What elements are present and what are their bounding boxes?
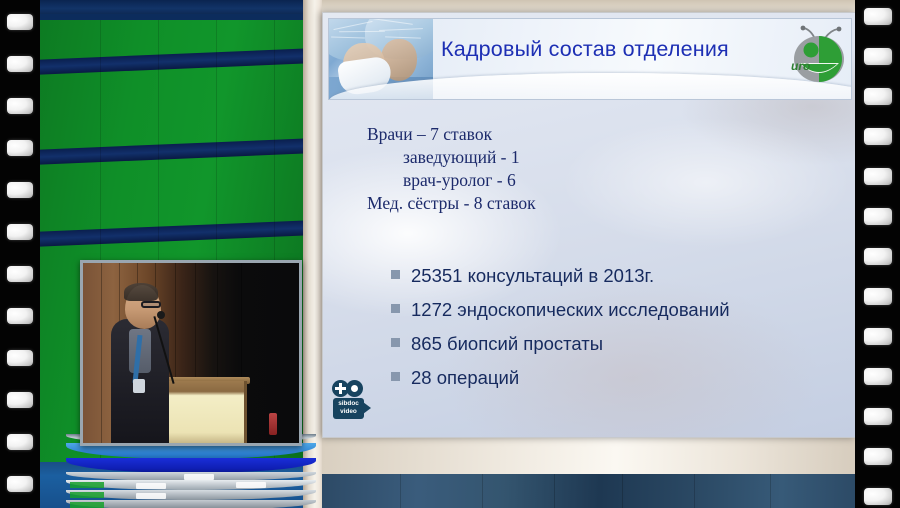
sibdoc-logo-text: sibdoc video [335, 400, 362, 416]
studio-wall-stripe [40, 47, 322, 75]
wall-tile-seam [770, 474, 771, 508]
uro-bee-logo: uro [785, 25, 849, 89]
desk-green-accent [70, 492, 104, 498]
film-sprocket-hole [864, 128, 892, 145]
sibdoc-line1: sibdoc [335, 400, 362, 408]
film-sprocket-hole [864, 88, 892, 105]
list-item: 865 биопсий простаты [391, 333, 841, 355]
speaker-badge [133, 379, 145, 393]
film-sprocket-hole [7, 14, 33, 30]
film-sprocket-hole [864, 8, 892, 25]
studio-top-band [40, 0, 322, 14]
film-sprocket-hole [864, 408, 892, 425]
wall-below-screen [322, 438, 856, 474]
staff-line: Врачи – 7 ставок [367, 123, 697, 146]
film-sprocket-hole [7, 434, 33, 450]
presenter-video-inset[interactable] [80, 260, 302, 446]
desk-white-accent [136, 493, 166, 499]
studio-wall-stripe [40, 219, 322, 247]
staff-line: Мед. сёстры - 8 ставок [367, 192, 697, 215]
film-sprocket-hole [7, 308, 33, 324]
film-sprocket-hole [7, 140, 33, 156]
film-strip-left [0, 0, 40, 508]
film-strip-right [855, 0, 900, 508]
studio-top-band-secondary [40, 14, 322, 20]
list-item: 1272 эндоскопических исследований [391, 299, 841, 321]
list-item-label: 865 биопсий простаты [411, 333, 603, 355]
glasses-icon [141, 301, 161, 308]
film-sprocket-hole [7, 182, 33, 198]
desk-white-accent [236, 482, 266, 488]
slide-canvas: Кадровый состав отделения uro [323, 13, 855, 437]
film-sprocket-hole [7, 392, 33, 408]
desk-green-accent [70, 482, 104, 488]
sibdoc-video-logo: sibdoc video [332, 379, 376, 423]
wall-tile-seam [482, 474, 483, 508]
wall-tile-seam [400, 474, 401, 508]
list-item: 28 операций [391, 367, 841, 389]
list-item-label: 25351 консультаций в 2013г. [411, 265, 654, 287]
film-sprocket-hole [864, 368, 892, 385]
list-item: 25351 консультаций в 2013г. [391, 265, 841, 287]
list-item-label: 1272 эндоскопических исследований [411, 299, 730, 321]
film-sprocket-hole [7, 224, 33, 240]
film-sprocket-hole [864, 288, 892, 305]
film-sprocket-hole [864, 328, 892, 345]
slide-header-banner: Кадровый состав отделения uro [328, 18, 852, 100]
wall-base-dark [322, 474, 856, 508]
staffing-text-block: Врачи – 7 ставок заведующий - 1 врач-уро… [367, 123, 697, 215]
video-player-frame: Кадровый состав отделения uro [0, 0, 900, 508]
film-sprocket-hole [864, 208, 892, 225]
film-sprocket-hole [864, 488, 892, 505]
statistics-bullet-list: 25351 консультаций в 2013г. 1272 эндоско… [391, 265, 841, 401]
uro-bee-icon [785, 25, 849, 89]
slide-title: Кадровый состав отделения [441, 37, 841, 62]
staff-line: врач-уролог - 6 [367, 169, 697, 192]
presentation-slide[interactable]: Кадровый состав отделения uro [322, 12, 856, 438]
film-sprocket-hole [7, 476, 33, 492]
speaker-hair [124, 283, 158, 301]
desk-green-accent [70, 502, 104, 508]
film-sprocket-hole [864, 448, 892, 465]
circle-inner-icon [351, 385, 358, 392]
tv-studio-background [40, 0, 322, 508]
desk-white-accent [184, 474, 214, 480]
wall-above-screen [322, 0, 856, 12]
film-sprocket-hole [7, 98, 33, 114]
film-sprocket-hole [864, 248, 892, 265]
square-bullet-icon [391, 372, 400, 381]
film-sprocket-hole [864, 48, 892, 65]
staff-line: заведующий - 1 [367, 146, 697, 169]
studio-column [303, 0, 322, 508]
wall-tile-seam [622, 474, 623, 508]
film-sprocket-hole [864, 168, 892, 185]
film-sprocket-hole [7, 56, 33, 72]
camera-lens-icon [363, 402, 371, 414]
curtain-seam [101, 263, 102, 443]
wall-tile-seam [694, 474, 695, 508]
square-bullet-icon [391, 338, 400, 347]
microphone-head [157, 311, 165, 319]
desk-white-accent [136, 483, 166, 489]
list-item-label: 28 операций [411, 367, 519, 389]
uro-logo-text: uro [791, 59, 810, 73]
square-bullet-icon [391, 304, 400, 313]
wall-tile-seam [554, 474, 555, 508]
square-bullet-icon [391, 270, 400, 279]
water-bottle [269, 413, 277, 435]
studio-wall-stripe [40, 137, 322, 165]
film-sprocket-hole [7, 266, 33, 282]
film-sprocket-hole [7, 350, 33, 366]
sibdoc-line2: video [335, 408, 362, 416]
